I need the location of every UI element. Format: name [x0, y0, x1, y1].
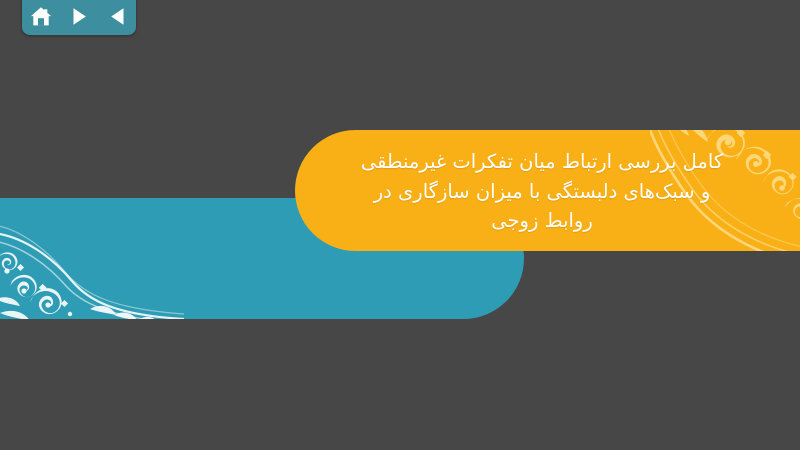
presentation-slide: کامل بررسی ارتباط میان تفکرات غیرمنطقی و… — [0, 0, 800, 450]
orange-title-banner: کامل بررسی ارتباط میان تفکرات غیرمنطقی و… — [295, 130, 800, 251]
slide-title: کامل بررسی ارتباط میان تفکرات غیرمنطقی و… — [327, 147, 757, 236]
home-icon — [30, 6, 52, 27]
navigation-toolbar — [22, 0, 136, 35]
triangle-right-icon — [71, 7, 88, 26]
title-line-3: روابط زوجی — [327, 206, 757, 236]
back-button[interactable] — [103, 4, 131, 28]
home-button[interactable] — [27, 4, 55, 28]
forward-button[interactable] — [65, 4, 93, 28]
arabesque-corner-ornament-teal — [0, 198, 184, 319]
triangle-left-icon — [109, 7, 126, 26]
title-line-2: و سبک‌های دلبستگی با میزان سازگاری در — [327, 177, 757, 207]
title-line-1: کامل بررسی ارتباط میان تفکرات غیرمنطقی — [327, 147, 757, 177]
